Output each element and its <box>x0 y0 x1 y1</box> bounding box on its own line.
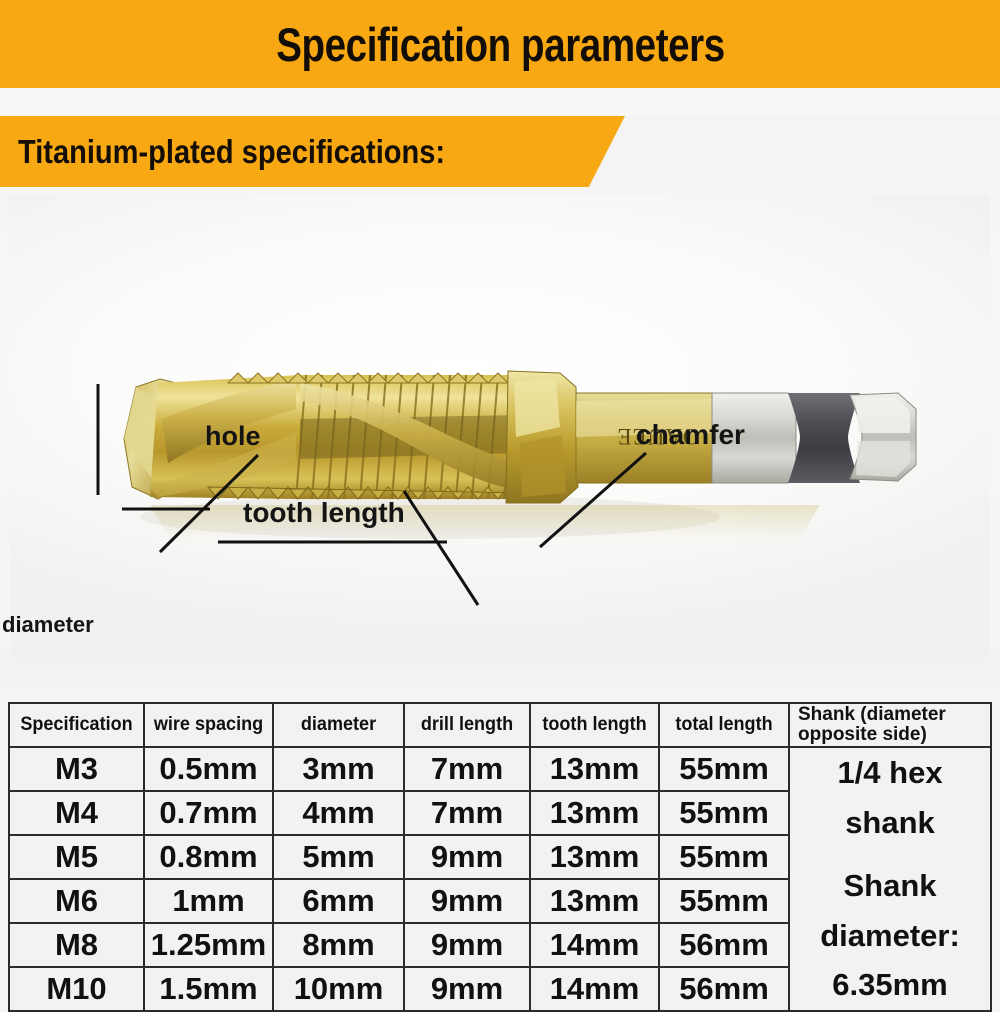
page-title: Specification parameters <box>276 17 725 72</box>
cell-tooth-length: 14mm <box>530 967 659 1011</box>
banner-divider-strip <box>0 88 1000 116</box>
cell-specification: M8 <box>9 923 144 967</box>
cell-diameter: 4mm <box>273 791 404 835</box>
section-title-banner: Titanium-plated specifications: <box>0 116 625 187</box>
cell-wire-spacing: 1.5mm <box>144 967 273 1011</box>
cell-wire-spacing: 1.25mm <box>144 923 273 967</box>
cell-drill-length: 9mm <box>404 967 530 1011</box>
cell-diameter: 10mm <box>273 967 404 1011</box>
cell-wire-spacing: 0.7mm <box>144 791 273 835</box>
table-header-row: Specification wire spacing diameter dril… <box>9 703 991 747</box>
cell-specification: M5 <box>9 835 144 879</box>
cell-tooth-length: 13mm <box>530 835 659 879</box>
cell-wire-spacing: 0.8mm <box>144 835 273 879</box>
cell-total-length: 55mm <box>659 747 789 791</box>
cell-drill-length: 9mm <box>404 835 530 879</box>
column-header-drill-length: drill length <box>407 703 527 747</box>
cell-diameter: 5mm <box>273 835 404 879</box>
cell-wire-spacing: 1mm <box>144 879 273 923</box>
cell-drill-length: 7mm <box>404 747 530 791</box>
cell-specification: M4 <box>9 791 144 835</box>
cell-shank-info: 1/4 hex shank Shank diameter: 6.35mm <box>789 747 991 1011</box>
column-header-diameter: diameter <box>276 703 400 747</box>
cell-drill-length: 7mm <box>404 791 530 835</box>
column-header-wire-spacing: wire spacing <box>147 703 270 747</box>
shank-hex-text: 1/4 hex shank <box>790 748 990 847</box>
cell-specification: M3 <box>9 747 144 791</box>
table-row: M3 0.5mm 3mm 7mm 13mm 55mm 1/4 hex shank… <box>9 747 991 791</box>
column-header-total-length: total length <box>662 703 786 747</box>
shank-diameter-value: 6.35mm <box>790 960 990 1010</box>
cell-wire-spacing: 0.5mm <box>144 747 273 791</box>
cell-tooth-length: 13mm <box>530 791 659 835</box>
cell-tooth-length: 13mm <box>530 879 659 923</box>
shank-diameter-label: Shank diameter: <box>790 861 990 960</box>
cell-total-length: 56mm <box>659 923 789 967</box>
cell-total-length: 55mm <box>659 879 789 923</box>
column-header-shank: Shank (diameter opposite side) <box>789 703 991 747</box>
cell-drill-length: 9mm <box>404 879 530 923</box>
label-hole: hole <box>205 421 261 452</box>
cell-specification: M6 <box>9 879 144 923</box>
column-header-specification: Specification <box>12 703 140 747</box>
cell-diameter: 8mm <box>273 923 404 967</box>
cell-total-length: 56mm <box>659 967 789 1011</box>
cell-tooth-length: 13mm <box>530 747 659 791</box>
section-title: Titanium-plated specifications: <box>18 133 445 171</box>
cell-total-length: 55mm <box>659 791 789 835</box>
cell-total-length: 55mm <box>659 835 789 879</box>
label-diameter: diameter <box>2 612 94 638</box>
cell-specification: M10 <box>9 967 144 1011</box>
product-illustration: OAUEE <box>0 187 1000 682</box>
shank-spacer <box>790 847 990 861</box>
cell-drill-length: 9mm <box>404 923 530 967</box>
label-tooth-length: tooth length <box>243 497 405 529</box>
cell-diameter: 6mm <box>273 879 404 923</box>
product-diagram: OAUEE hole tooth length chamfer diameter… <box>0 187 1000 682</box>
label-chamfer: chamfer <box>636 419 745 451</box>
cell-diameter: 3mm <box>273 747 404 791</box>
specification-table: Specification wire spacing diameter dril… <box>8 702 992 1012</box>
page-title-banner: Specification parameters <box>0 0 1000 88</box>
column-header-tooth-length: tooth length <box>533 703 656 747</box>
cell-tooth-length: 14mm <box>530 923 659 967</box>
specification-table-wrapper: Specification wire spacing diameter dril… <box>8 702 990 984</box>
